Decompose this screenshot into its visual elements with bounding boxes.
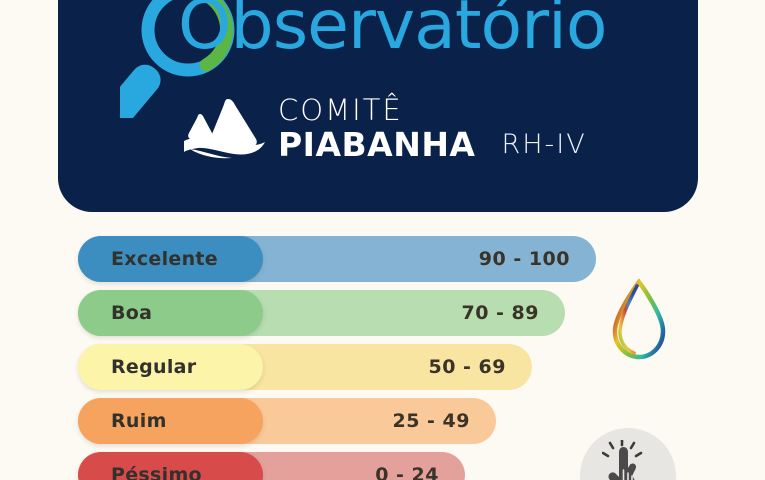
legend-row[interactable]: 70 - 89 Boa	[78, 290, 638, 336]
legend-label-ruim: Ruim	[78, 410, 167, 432]
committee-words: COMITÊ PIABANHA	[278, 96, 475, 161]
legend-pill-ruim[interactable]: Ruim	[78, 398, 263, 444]
legend-pill-regular[interactable]: Regular	[78, 344, 263, 390]
legend-label-pessimo: Péssimo	[78, 464, 202, 480]
legend-label-boa: Boa	[78, 302, 152, 324]
legend-row[interactable]: 25 - 49 Ruim	[78, 398, 638, 444]
brand-title: Observatório	[178, 0, 607, 60]
legend-row[interactable]: 50 - 69 Regular	[78, 344, 638, 390]
committee-lockup: COMITÊ PIABANHA RH-IV	[180, 92, 587, 164]
legend-range-regular: 50 - 69	[429, 356, 533, 378]
legend-pill-excelente[interactable]: Excelente	[78, 236, 263, 282]
region-code-label: RH-IV	[501, 129, 586, 160]
infographic-page: Observatório COMITÊ PIABANHA RH-IV	[0, 0, 765, 480]
committee-line-1: COMITÊ	[278, 96, 475, 125]
legend-label-regular: Regular	[78, 356, 196, 378]
legend-range-excelente: 90 - 100	[479, 248, 596, 270]
legend-pill-pessimo[interactable]: Péssimo	[78, 452, 263, 480]
legend-range-pessimo: 0 - 24	[375, 464, 465, 480]
legend-label-excelente: Excelente	[78, 248, 218, 270]
tap-hand-cursor-icon	[602, 440, 654, 480]
legend-pill-boa[interactable]: Boa	[78, 290, 263, 336]
committee-line-2: PIABANHA	[278, 128, 475, 161]
rainbow-water-drop-icon	[608, 278, 670, 362]
legend-range-boa: 70 - 89	[462, 302, 566, 324]
water-quality-legend: 90 - 100 Excelente 70 - 89 Boa 50 - 69 R…	[78, 236, 638, 480]
legend-range-ruim: 25 - 49	[393, 410, 497, 432]
mountain-wave-logo-icon	[180, 97, 268, 159]
legend-row[interactable]: 90 - 100 Excelente	[78, 236, 638, 282]
header-card: Observatório COMITÊ PIABANHA RH-IV	[58, 0, 698, 212]
legend-row[interactable]: 0 - 24 Péssimo	[78, 452, 638, 480]
